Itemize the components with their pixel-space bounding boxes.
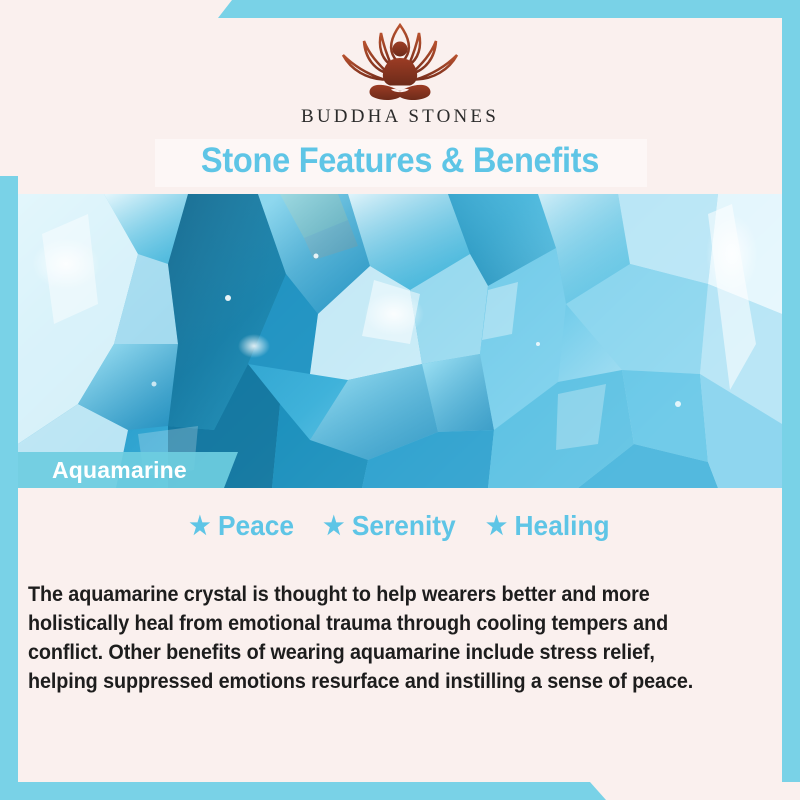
stone-name-text: Aquamarine <box>52 457 187 484</box>
frame-left-accent <box>0 176 18 782</box>
brand-logo: BUDDHA STONES <box>0 18 800 138</box>
frame-top-accent <box>218 0 800 18</box>
star-icon: ★ <box>324 514 345 539</box>
keyword-healing: ★ Healing <box>486 510 610 542</box>
page-title: Stone Features & Benefits <box>28 141 772 181</box>
brand-name: BUDDHA STONES <box>301 106 499 128</box>
keyword-label: Peace <box>218 510 294 542</box>
stone-info-card: BUDDHA STONES Stone Features & Benefits <box>0 0 800 800</box>
keyword-label: Serenity <box>352 510 456 542</box>
keyword-list: ★ Peace ★ Serenity ★ Healing <box>18 510 782 542</box>
stone-name-badge: Aquamarine <box>18 452 238 488</box>
description-text: The aquamarine crystal is thought to hel… <box>28 580 694 696</box>
keyword-serenity: ★ Serenity <box>324 510 456 542</box>
frame-bottom-accent <box>0 782 606 800</box>
lotus-meditation-icon <box>325 18 475 104</box>
star-icon: ★ <box>486 514 507 539</box>
aquamarine-crystal-illustration <box>18 194 782 488</box>
star-icon: ★ <box>189 514 210 539</box>
keyword-label: Healing <box>515 510 610 542</box>
keyword-peace: ★ Peace <box>189 510 294 542</box>
hero-image <box>18 194 782 488</box>
